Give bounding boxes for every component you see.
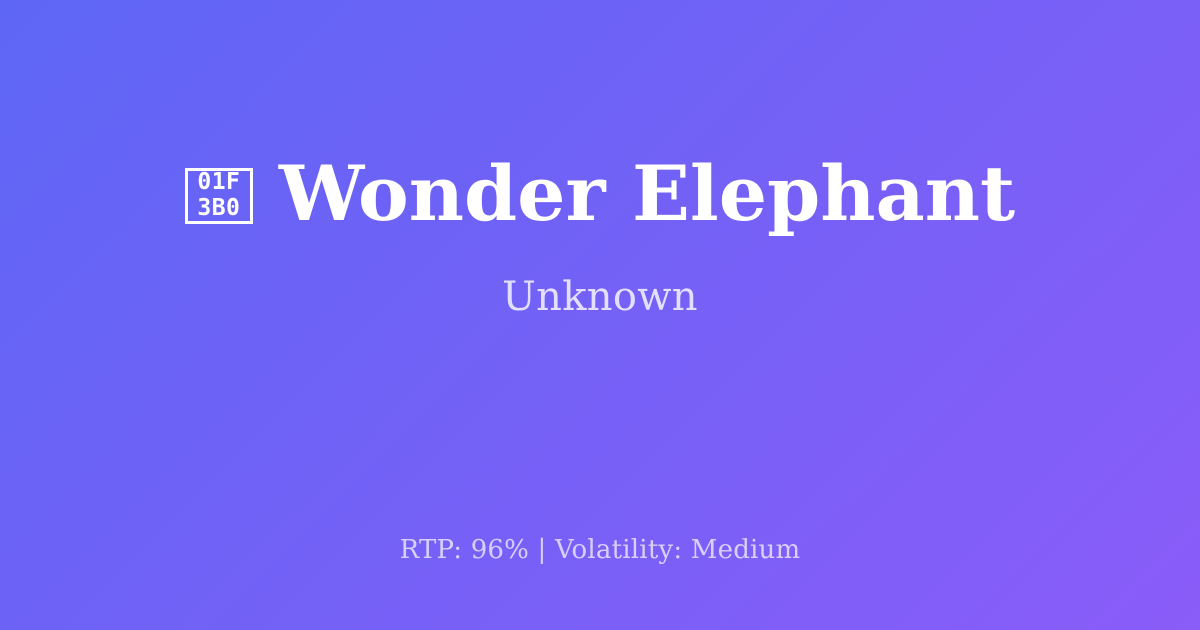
title-row: 01F 3B0 Wonder Elephant bbox=[185, 154, 1015, 233]
tofu-codepoint-bottom: 3B0 bbox=[197, 197, 240, 220]
slot-machine-icon: 01F 3B0 bbox=[185, 168, 253, 224]
footer-meta-line: RTP: 96% | Volatility: Medium bbox=[0, 534, 1200, 568]
og-share-card: 01F 3B0 Wonder Elephant Unknown RTP: 96%… bbox=[0, 0, 1200, 630]
hero-block: 01F 3B0 Wonder Elephant Unknown bbox=[0, 0, 1200, 475]
page-title: Wonder Elephant bbox=[279, 154, 1015, 233]
tofu-codepoint-top: 01F bbox=[197, 171, 240, 194]
page-subtitle: Unknown bbox=[502, 273, 698, 321]
